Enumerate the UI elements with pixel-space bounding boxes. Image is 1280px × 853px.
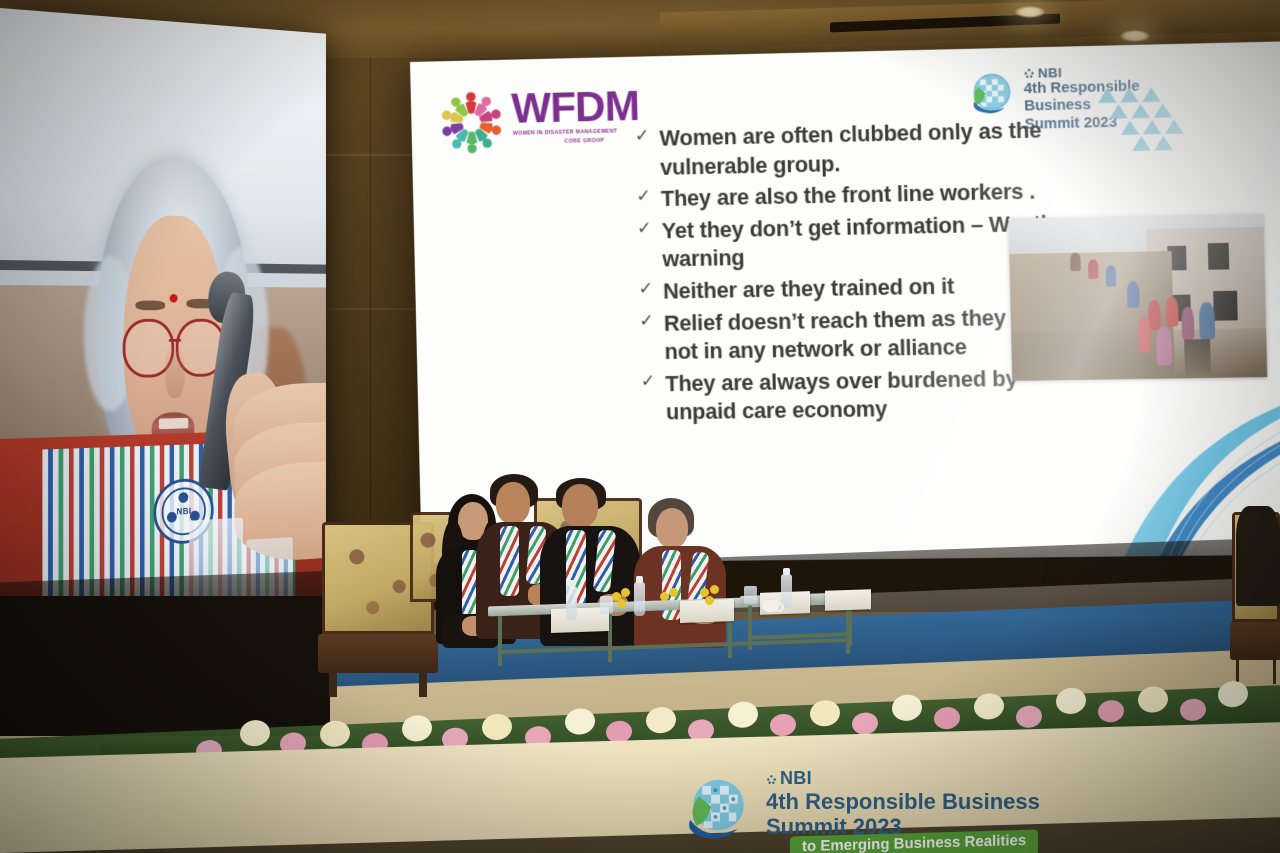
bullet-text: Neither are they trained on it <box>663 272 955 306</box>
banner-nbi-name: NBI <box>766 768 1040 789</box>
bullet-text: Women are often clubbed only as the vuln… <box>659 116 1075 183</box>
tumbler <box>744 586 757 604</box>
wfdm-subtitle: WOMEN IN DISASTER MANAGEMENT <box>513 129 618 137</box>
wfdm-logo: WFDM WOMEN IN DISASTER MANAGEMENT CORE G… <box>433 79 646 166</box>
screenshot-root: NBI <box>0 0 1280 853</box>
bullet-text: They are also the front line workers . <box>661 178 1036 214</box>
name-placard <box>825 589 871 611</box>
wfdm-subtitle-2: CORE GROUP <box>564 138 604 145</box>
wfdm-wordmark: WFDM <box>511 85 640 130</box>
water-bottle <box>634 582 645 616</box>
flower-vase <box>612 592 634 618</box>
check-icon: ✓ <box>639 309 655 367</box>
disaster-photo <box>1008 214 1267 381</box>
triangle-pattern-icon <box>1096 86 1193 151</box>
nbi-label: NBI <box>1038 65 1062 81</box>
nbi-people-mark-icon <box>766 774 777 785</box>
tea-cup <box>762 600 779 612</box>
downlight-icon <box>1120 30 1150 42</box>
check-icon: ✓ <box>635 125 651 183</box>
water-bottle <box>566 586 577 620</box>
check-icon: ✓ <box>640 370 656 428</box>
check-icon: ✓ <box>638 278 653 307</box>
flower-vase <box>660 592 682 618</box>
globe-leaf-hand-icon <box>680 774 754 848</box>
globe-leaf-hand-icon <box>964 68 1019 122</box>
check-icon: ✓ <box>636 185 651 214</box>
banner-nbi-label: NBI <box>780 768 812 788</box>
list-item: ✓ Women are often clubbed only as the vu… <box>635 116 1076 183</box>
attendee <box>1236 486 1280 606</box>
speaker-teeth <box>159 417 188 428</box>
check-icon: ✓ <box>637 217 653 275</box>
speaker-nose <box>165 345 184 398</box>
people-circle-icon <box>433 84 511 162</box>
flower-vase <box>700 588 722 614</box>
nbi-people-mark-icon <box>1023 68 1035 79</box>
downlight-icon <box>1015 6 1045 18</box>
banner-line-2: 4th Responsible Business <box>766 789 1040 814</box>
speaker-close-up-screen: NBI <box>0 8 326 623</box>
bindi-icon <box>169 294 177 303</box>
list-item: ✓ They are also the front line workers . <box>636 177 1076 215</box>
